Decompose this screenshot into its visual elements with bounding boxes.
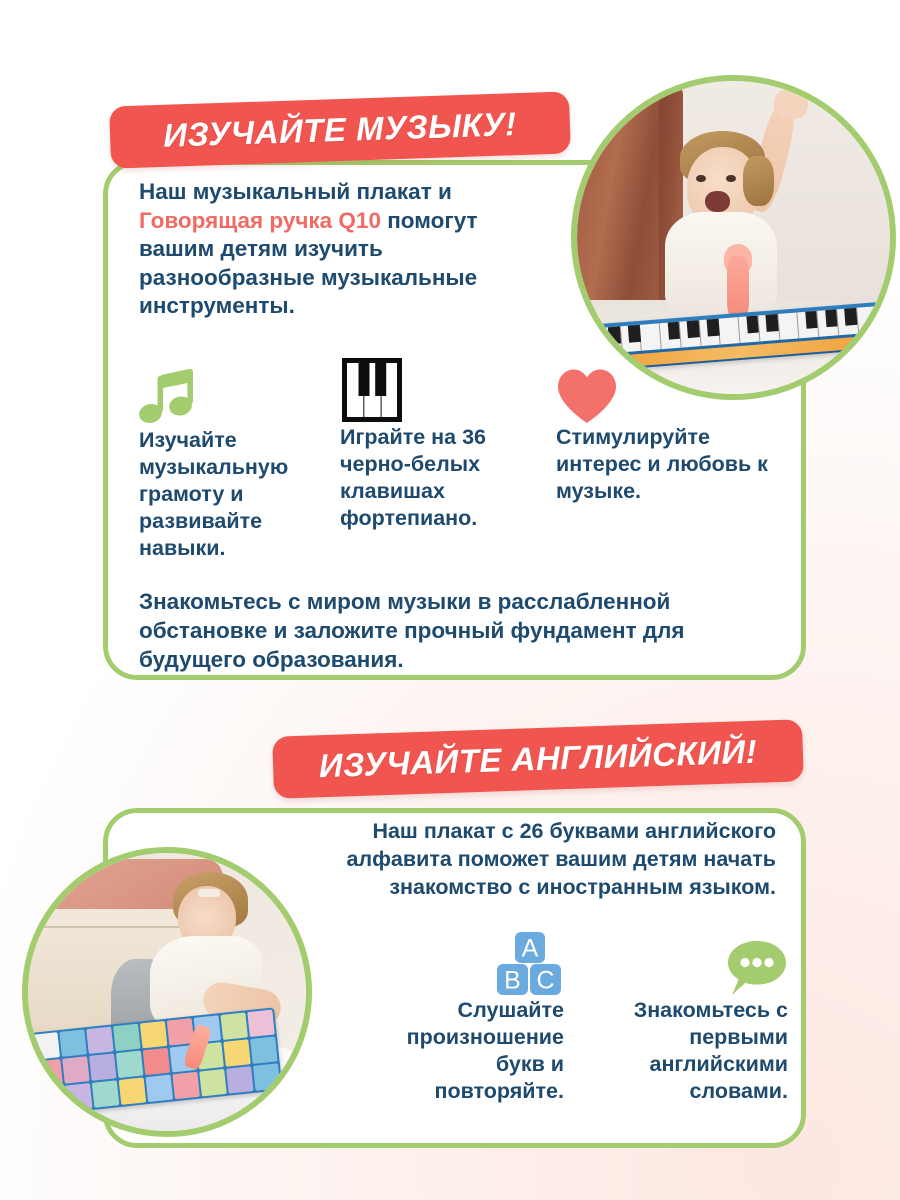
feature-pronunciation: A B C Слушайте произношение букв и повто… bbox=[392, 925, 564, 1105]
feature-label: Играйте на 36 черно-белых клавишах форте… bbox=[340, 424, 530, 532]
music-ribbon-banner: ИЗУЧАЙТЕ МУЗЫКУ! bbox=[109, 91, 571, 168]
english-intro-paragraph: Наш плакат с 26 буквами английского алфа… bbox=[268, 818, 776, 902]
feature-label: Знакомьтесь с первыми английскими словам… bbox=[596, 997, 788, 1105]
english-ribbon-title: ИЗУЧАЙТЕ АНГЛИЙСКИЙ! bbox=[318, 733, 758, 786]
heart-icon-wrap bbox=[556, 352, 788, 424]
abc-letter-a: A bbox=[522, 935, 539, 963]
speech-bubble-icon-wrap bbox=[596, 925, 788, 997]
feature-music-literacy: Изучайте музыкальную грамоту и развивайт… bbox=[139, 355, 314, 562]
music-note-icon-wrap bbox=[139, 355, 314, 427]
feature-first-words: Знакомьтесь с первыми английскими словам… bbox=[596, 925, 788, 1105]
piano-keys-icon-wrap bbox=[340, 352, 530, 424]
music-outro-paragraph: Знакомьтесь с миром музыки в расслабленн… bbox=[139, 588, 779, 674]
music-note-icon bbox=[139, 367, 195, 427]
abc-blocks-icon-wrap: A B C bbox=[392, 925, 564, 997]
feature-love-music: Стимулируйте интерес и любовь к музыке. bbox=[556, 352, 788, 505]
abc-letter-b: B bbox=[504, 967, 521, 995]
feature-label: Изучайте музыкальную грамоту и развивайт… bbox=[139, 427, 314, 562]
infographic-page: ИЗУЧАЙТЕ МУЗЫКУ! Наш музыкальный плакат … bbox=[0, 0, 900, 1200]
abc-letter-c: C bbox=[536, 967, 554, 995]
music-intro-line1: Наш музыкальный плакат и bbox=[139, 179, 452, 204]
music-photo-image bbox=[577, 81, 890, 394]
english-ribbon-banner: ИЗУЧАЙТЕ АНГЛИЙСКИЙ! bbox=[272, 719, 804, 799]
english-photo-image bbox=[28, 853, 306, 1131]
feature-piano-keys: Играйте на 36 черно-белых клавишах форте… bbox=[340, 352, 530, 532]
speech-bubble-icon bbox=[726, 939, 788, 997]
music-ribbon-title: ИЗУЧАЙТЕ МУЗЫКУ! bbox=[163, 105, 518, 155]
music-intro-paragraph: Наш музыкальный плакат и Говорящая ручка… bbox=[139, 178, 539, 321]
piano-keys-icon bbox=[340, 356, 404, 424]
feature-label: Стимулируйте интерес и любовь к музыке. bbox=[556, 424, 788, 505]
feature-label: Слушайте произношение букв и повторяйте. bbox=[392, 997, 564, 1105]
heart-icon bbox=[556, 368, 618, 424]
talking-pen-highlight: Говорящая ручка Q10 bbox=[139, 208, 381, 233]
abc-blocks-icon: A B C bbox=[494, 931, 564, 997]
